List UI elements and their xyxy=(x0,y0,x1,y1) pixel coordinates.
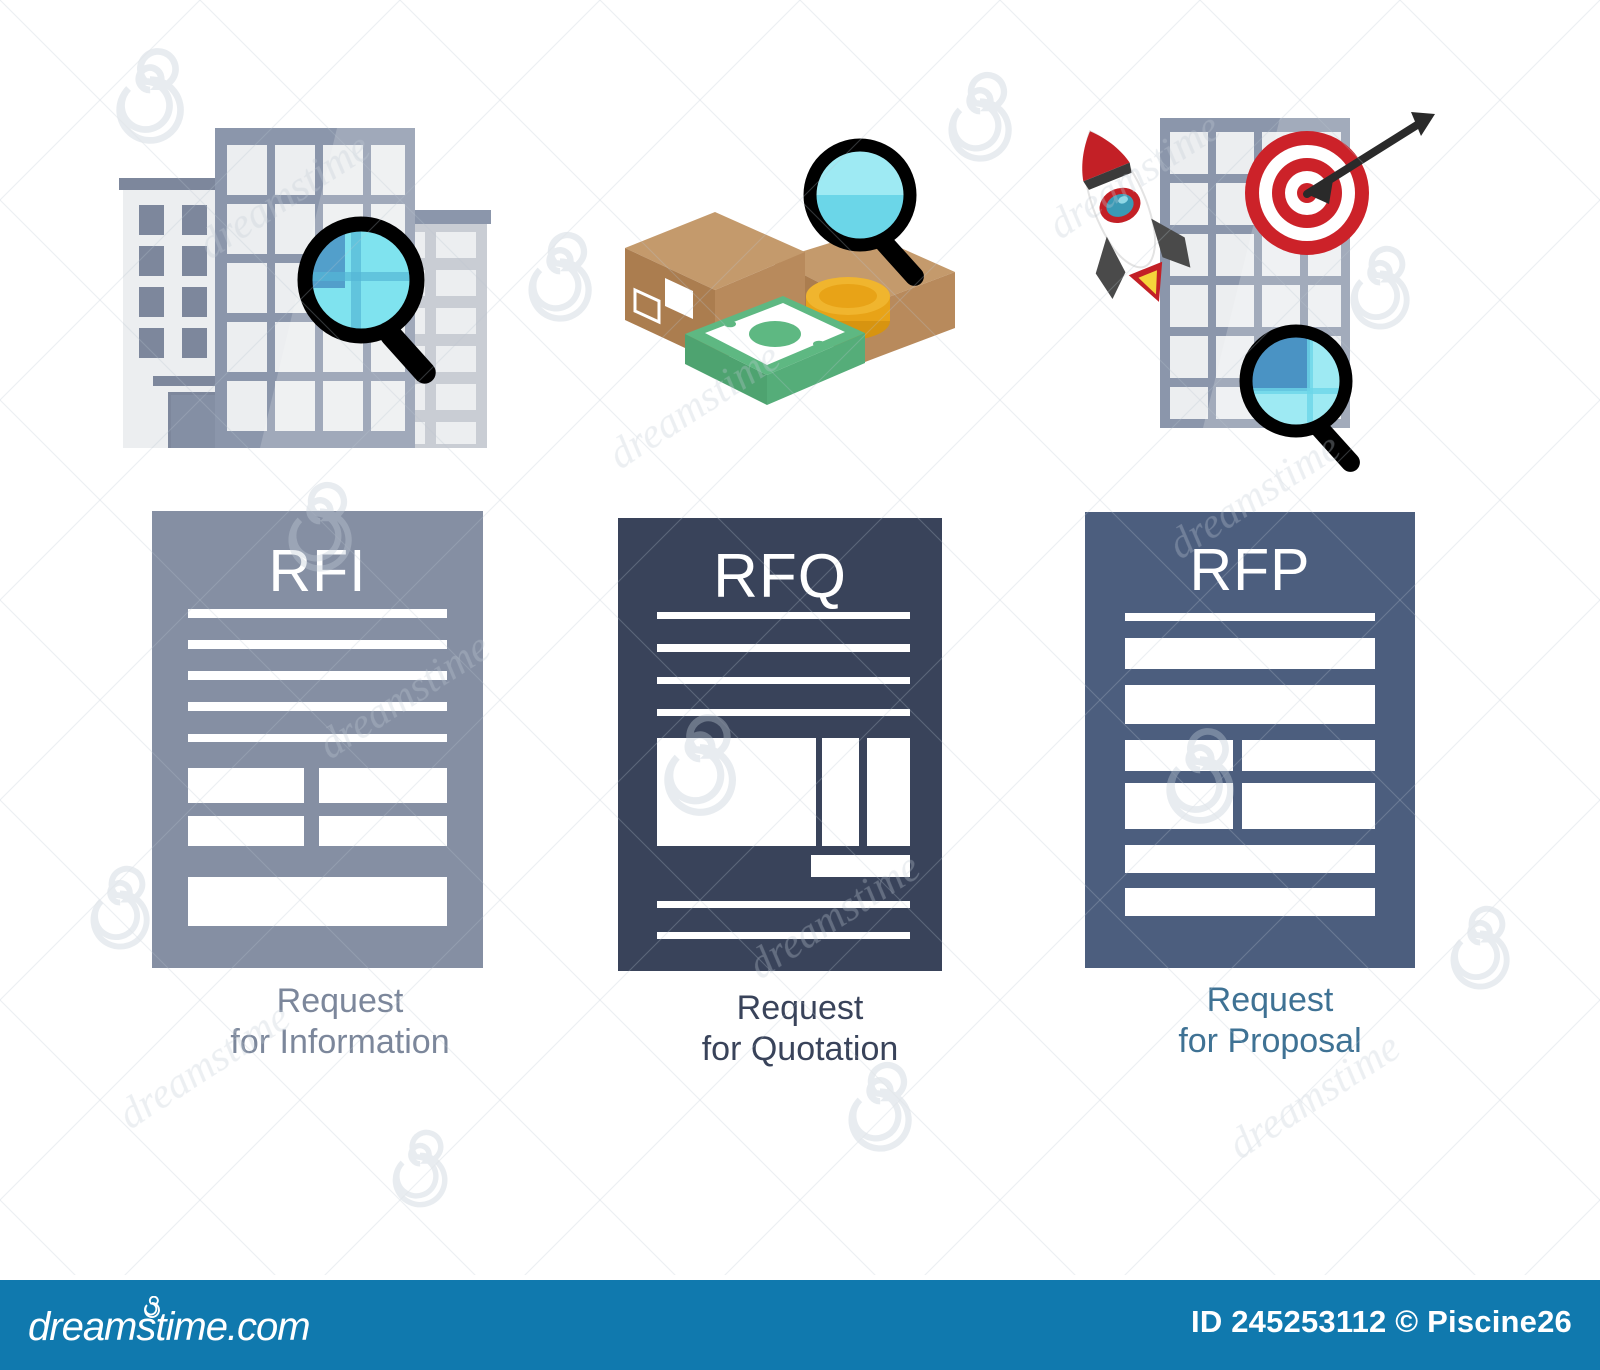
rfi-artwork xyxy=(105,100,575,490)
rfp-bar-3 xyxy=(1125,845,1376,873)
rfp-box-left-2 xyxy=(1125,783,1234,830)
column-rfp: RFP Request for Proposal xyxy=(1035,0,1505,1150)
rfi-box-wide xyxy=(188,877,446,926)
rfi-line-3 xyxy=(188,671,446,680)
rfi-document-card: RFI xyxy=(152,511,483,968)
rfq-line-5 xyxy=(657,901,910,908)
rfq-caption-line-1: Request xyxy=(565,988,1035,1029)
rfp-document-card: RFP xyxy=(1085,512,1415,968)
image-id-credit: ID 245253112 © Piscine26 xyxy=(1191,1304,1572,1340)
dreamstime-footer-bar: dreamstime.com ID 245253112 © Piscine26 xyxy=(0,1280,1600,1370)
rfp-box-right-1 xyxy=(1242,740,1376,771)
rfi-box-right-1 xyxy=(319,768,446,803)
dreamstime-logo: dreamstime.com xyxy=(28,1296,328,1354)
rfq-caption-line-2: for Quotation xyxy=(565,1029,1035,1070)
rfq-block-main xyxy=(657,738,816,847)
office-buildings-icon xyxy=(105,100,575,490)
rfq-artwork xyxy=(565,100,1035,490)
rfq-line-2 xyxy=(657,644,910,651)
rfi-line-5 xyxy=(188,734,446,743)
rfp-box-right-2 xyxy=(1242,783,1376,830)
rfp-title: RFP xyxy=(1085,538,1415,602)
rfp-caption: Request for Proposal xyxy=(1035,980,1505,1062)
rfq-line-1 xyxy=(657,612,910,619)
rfq-line-3 xyxy=(657,677,910,684)
rfi-line-1 xyxy=(188,609,446,618)
rfi-title: RFI xyxy=(152,539,483,603)
svg-text:dreamstime.com: dreamstime.com xyxy=(28,1305,310,1349)
illustration-canvas: RFI Request for Information xyxy=(0,0,1600,1370)
rfp-caption-line-2: for Proposal xyxy=(1035,1021,1505,1062)
rfq-block-col-2 xyxy=(867,738,909,847)
rfi-line-4 xyxy=(188,702,446,711)
rfp-caption-line-1: Request xyxy=(1035,980,1505,1021)
rfp-bar-1 xyxy=(1125,638,1376,669)
rfi-caption: Request for Information xyxy=(105,981,575,1063)
rfi-caption-line-2: for Information xyxy=(105,1022,575,1063)
rfq-caption: Request for Quotation xyxy=(565,988,1035,1070)
rfq-line-4 xyxy=(657,709,910,716)
rfp-artwork xyxy=(1035,100,1505,490)
rfi-box-right-2 xyxy=(319,816,446,846)
rfq-line-6 xyxy=(657,932,910,939)
rfi-caption-line-1: Request xyxy=(105,981,575,1022)
rfq-block-col-1 xyxy=(822,738,859,847)
rfi-box-left-1 xyxy=(188,768,304,803)
rfq-title: RFQ xyxy=(618,544,942,610)
rfq-block-total xyxy=(811,855,910,877)
rfi-line-2 xyxy=(188,640,446,649)
rfp-bar-4 xyxy=(1125,888,1376,916)
column-rfq: RFQ Request for Quotation xyxy=(565,0,1035,1150)
column-rfi: RFI Request for Information xyxy=(105,0,575,1150)
rfq-document-card: RFQ xyxy=(618,518,942,971)
rfi-box-left-2 xyxy=(188,816,304,846)
rfp-bar-2 xyxy=(1125,685,1376,724)
rfp-line-1 xyxy=(1125,613,1376,620)
rfp-box-left-1 xyxy=(1125,740,1234,771)
